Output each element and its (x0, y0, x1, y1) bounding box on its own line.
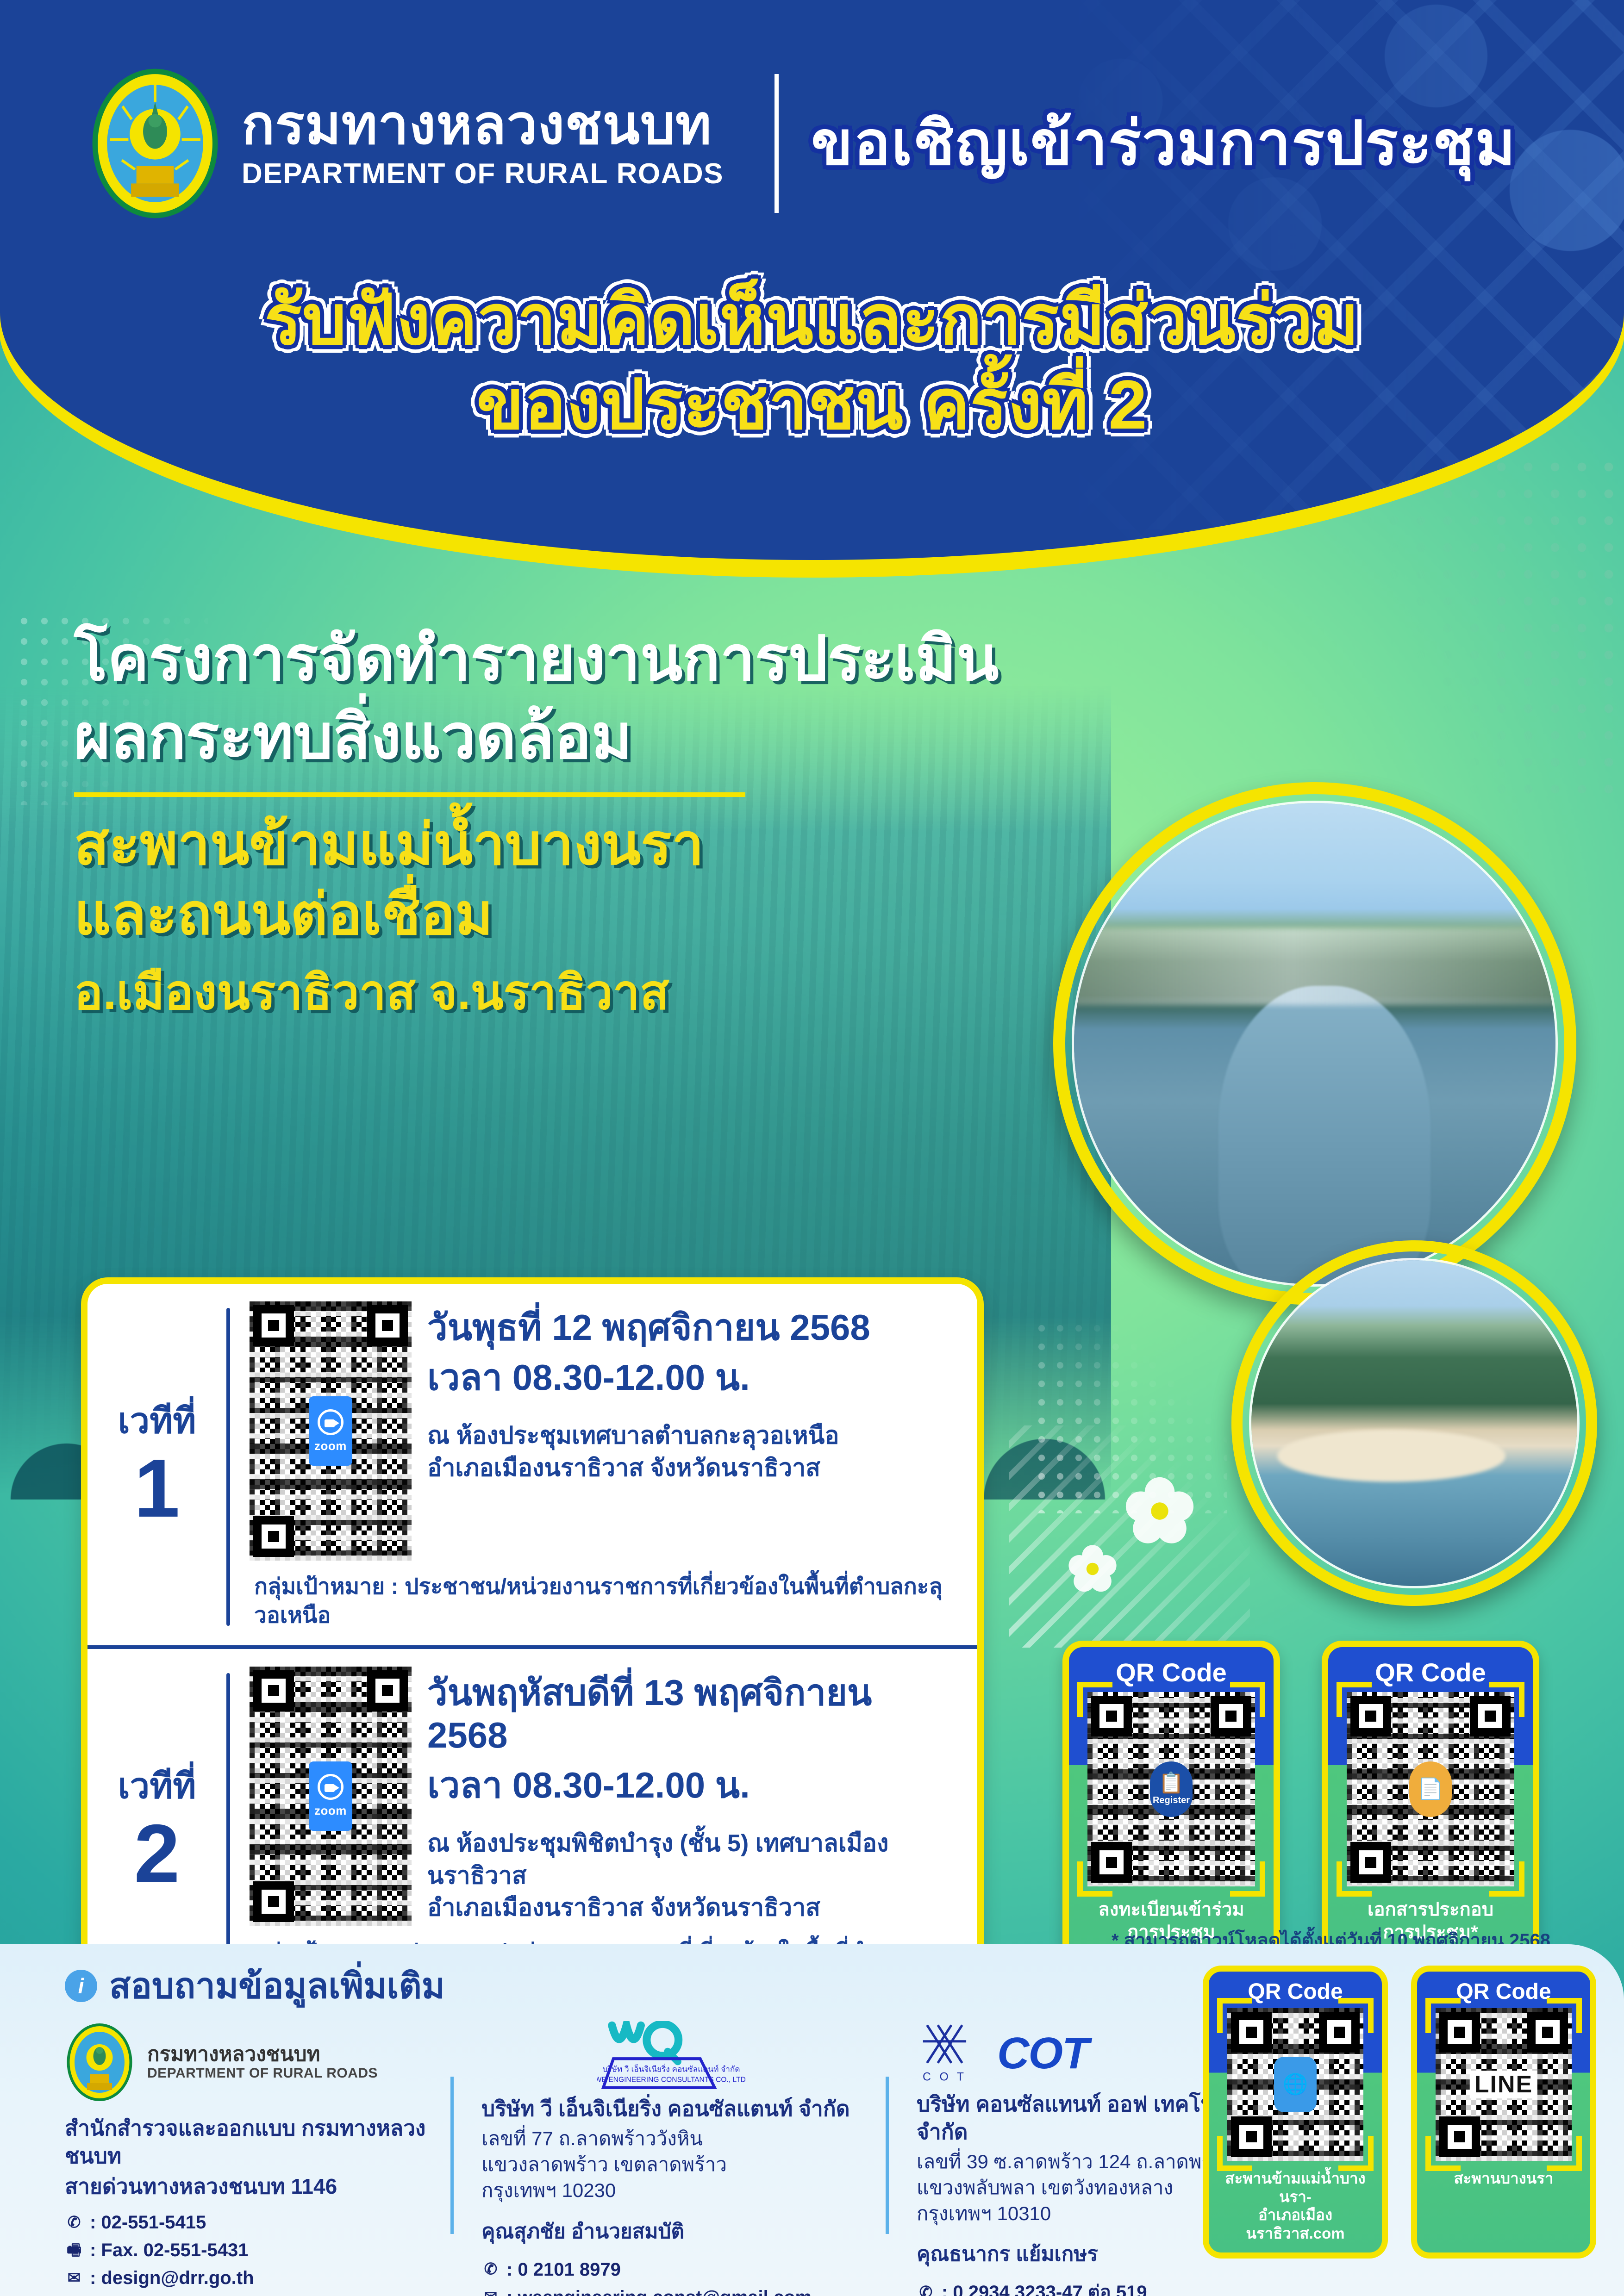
email-icon: ✉ (65, 2266, 83, 2290)
zoom-logo-icon: zoom (309, 1396, 352, 1466)
session-1-badge: เวทีที่ 1 (87, 1300, 226, 1634)
session-vertical-rule (226, 1308, 230, 1626)
footer-drr-hotline: สายด่วนทางหลวงชนบท 1146 (65, 2173, 426, 2201)
project-subtitle-line1: สะพานข้ามแม่น้ำบางนรา (74, 810, 999, 880)
documents-icon: 📄 (1409, 1761, 1452, 1817)
project-title-line2: ผลกระทบสิ่งแวดล้อม (74, 698, 999, 777)
contact-fax-text: : Fax. 02-551-5431 (90, 2236, 248, 2264)
we-engineering-logo: บริษัท วี เอ็นจิเนียริ่ง คอนซัลแตนท์ จำก… (481, 2021, 861, 2091)
qr-card-line-caption1: สะพานบางนรา (1422, 2169, 1586, 2188)
qr-card-documents[interactable]: QR Code 📄 เอกสารประกอบ การประชุม* (1322, 1641, 1539, 1964)
session-2-date: วันพฤหัสบดีที่ 13 พฤศจิกายน 2568 (427, 1671, 959, 1756)
contact-email[interactable]: ✉ : design@drr.go.th (65, 2264, 426, 2292)
qr-card-website-caption2: อำเภอเมืองนราธิวาส.com (1213, 2206, 1377, 2242)
qr-code-cards: QR Code 📋 Register ลงทะเบียนเข้าร่วม การ… (1062, 1641, 1539, 1964)
contact-phone[interactable]: ✆ : 02-551-5415 (65, 2209, 426, 2236)
session-2-time: เวลา 08.30-12.00 น. (427, 1764, 959, 1806)
footer-we-addr2: แขวงลาดพร้าว เขตลาดพร้าว (481, 2152, 861, 2178)
project-location: อ.เมืองนราธิวาส จ.นราธิวาส (74, 962, 999, 1024)
session-1-date: วันพุธที่ 12 พฤศจิกายน 2568 (427, 1306, 959, 1349)
qr-code-documents-image[interactable]: 📄 (1347, 1692, 1514, 1886)
zoom-badge-word: zoom (314, 1804, 347, 1818)
qr-card-documents-caption1: เอกสารประกอบ (1336, 1898, 1525, 1921)
footer-we-addr1: เลขที่ 77 ถ.ลาดพร้าววังหิน (481, 2126, 861, 2152)
narathiwat-coastline-aerial-photo (1231, 1240, 1597, 1606)
footer-drr-name-th: กรมทางหลวงชนบท (147, 2043, 378, 2066)
session-1-number: 1 (134, 1447, 180, 1530)
we-logo-icon: บริษัท วี เอ็นจิเนียริ่ง คอนซัลแตนท์ จำก… (597, 2021, 745, 2091)
we-phone-text: : 0 2101 8979 (506, 2256, 621, 2284)
session-1-target-group: กลุ่มเป้าหมาย : ประชาชน/หน่วยงานราชการที… (254, 1573, 959, 1630)
title-divider-rule (74, 792, 745, 797)
contact-phone-text: : 02-551-5415 (90, 2209, 206, 2236)
header-invite-text: ขอเชิญเข้าร่วมการประชุม (811, 110, 1516, 177)
contact-email[interactable]: ✉ : weengineering.const@gmail.com (481, 2284, 861, 2296)
drr-seal-icon (65, 2021, 134, 2103)
contact-fax: 🖷 : Fax. 02-551-5431 (65, 2236, 426, 2264)
header-org-name-th: กรมทางหลวงชนบท (242, 97, 724, 154)
contact-phone[interactable]: ✆ : 0 2101 8979 (481, 2256, 861, 2284)
hero-title: รับฟังความคิดเห็นและการมีส่วนร่วม ของประ… (0, 278, 1624, 447)
session-1-venue-line2: อำเภอเมืองนราธิวาส จังหวัดนราธิวาส (427, 1452, 959, 1485)
footer-drr-office: สำนักสำรวจและออกแบบ กรมทางหลวงชนบท (65, 2115, 426, 2170)
zoom-logo-icon: zoom (309, 1761, 352, 1831)
svg-text:C O T: C O T (923, 2071, 967, 2083)
session-1-time: เวลา 08.30-12.00 น. (427, 1356, 959, 1399)
globe-www-icon: 🌐 (1274, 2057, 1317, 2112)
qr-card-website[interactable]: QR Code 🌐 สะพานข้ามแม่น้ำบางนรา- อำเภอเม… (1203, 1966, 1388, 2259)
info-icon: i (65, 1970, 97, 2002)
session-1-venue-line1: ณ ห้องประชุมเทศบาลตำบลกะลุวอเหนือ (427, 1420, 959, 1452)
session-2-label: เวทีที่ (118, 1769, 196, 1804)
footer-contact-section: i สอบถามข้อมูลเพิ่มเติม (0, 1944, 1624, 2296)
register-clipboard-icon: 📋 Register (1150, 1761, 1193, 1817)
zoom-qr-session-1[interactable]: zoom (250, 1301, 412, 1561)
footer-column-drr: กรมทางหลวงชนบท DEPARTMENT OF RURAL ROADS… (0, 2021, 454, 2296)
flower-icon (1065, 1541, 1120, 1597)
cot-wordmark: COT (997, 2028, 1088, 2079)
qr-card-register[interactable]: QR Code 📋 Register ลงทะเบียนเข้าร่วม การ… (1062, 1641, 1280, 1964)
header-org-name-en: DEPARTMENT OF RURAL ROADS (242, 157, 724, 190)
footer-column-we: บริษัท วี เอ็นจิเนียริ่ง คอนซัลแตนท์ จำก… (454, 2021, 889, 2296)
flower-icon (1120, 1472, 1199, 1550)
zoom-badge-word: zoom (314, 1439, 347, 1453)
session-2-number: 2 (134, 1812, 180, 1895)
footer-drr-name-en: DEPARTMENT OF RURAL ROADS (147, 2066, 378, 2081)
header-divider (775, 74, 779, 213)
line-logo-icon: LINE (1470, 2071, 1537, 2098)
qr-card-register-caption1: ลงทะเบียนเข้าร่วม (1076, 1898, 1266, 1921)
footer-we-company: บริษัท วี เอ็นจิเนียริ่ง คอนซัลแตนท์ จำก… (481, 2095, 861, 2123)
fax-icon: 🖷 (65, 2239, 83, 2262)
session-row: เวทีที่ 1 zoom วันพุธที่ 12 พฤศจิกาย (87, 1284, 977, 1645)
hero-title-line1: รับฟังความคิดเห็นและการมีส่วนร่วม (0, 278, 1624, 362)
phone-icon: ✆ (65, 2211, 83, 2234)
footer-qr-cards: QR Code 🌐 สะพานข้ามแม่น้ำบางนรา- อำเภอเม… (1203, 1966, 1596, 2259)
qr-card-website-caption1: สะพานข้ามแม่น้ำบางนรา- (1213, 2169, 1377, 2206)
we-email-text: : weengineering.const@gmail.com (506, 2284, 812, 2296)
hero-title-line2: ของประชาชน ครั้งที่ 2 (0, 362, 1624, 447)
session-1-label: เวทีที่ (118, 1404, 196, 1439)
contact-phone[interactable]: ✆ : 0 2934 3233-47 ต่อ 519 (917, 2278, 1305, 2296)
qr-card-line[interactable]: QR Code LINE สะพานบางนรา (1411, 1966, 1596, 2259)
svg-text:บริษัท วี เอ็นจิเนียริ่ง คอนซั: บริษัท วี เอ็นจิเนียริ่ง คอนซัลแตนท์ จำก… (603, 2063, 740, 2073)
email-icon: ✉ (481, 2285, 500, 2296)
zoom-qr-session-2[interactable]: zoom (250, 1667, 412, 1926)
project-title-line1: โครงการจัดทำรายงานการประเมิน (74, 620, 999, 698)
footer-we-addr3: กรุงเทพฯ 10230 (481, 2178, 861, 2203)
session-2-venue-line2: อำเภอเมืองนราธิวาส จังหวัดนราธิวาส (427, 1892, 959, 1924)
phone-icon: ✆ (917, 2281, 935, 2296)
session-2-venue-line1: ณ ห้องประชุมพิชิตบำรุง (ชั้น 5) เทศบาลเม… (427, 1828, 959, 1892)
project-subtitle-line2: และถนนต่อเชื่อม (74, 880, 999, 950)
svg-text:WE ENGINEERING CONSULTANTS CO.: WE ENGINEERING CONSULTANTS CO., LTD. (597, 2076, 745, 2084)
poster-root: กรมทางหลวงชนบท DEPARTMENT OF RURAL ROADS… (0, 0, 1624, 2296)
drr-seal-icon (88, 65, 222, 222)
qr-code-register-image[interactable]: 📋 Register (1087, 1692, 1255, 1886)
project-title-block: โครงการจัดทำรายงานการประเมิน ผลกระทบสิ่ง… (74, 620, 999, 1024)
bangnara-river-aerial-photo (1053, 782, 1576, 1305)
cot-logo-icon: C O T (917, 2021, 986, 2086)
cot-phone-text: : 0 2934 3233-47 ต่อ 519 (942, 2278, 1147, 2296)
session-vertical-rule (226, 1673, 230, 1991)
phone-icon: ✆ (481, 2258, 500, 2281)
footer-heading: สอบถามข้อมูลเพิ่มเติม (109, 1958, 445, 2014)
footer-we-contact-person: คุณสุภชัย อำนวยสมบัติ (481, 2215, 861, 2247)
register-badge-label: Register (1153, 1795, 1190, 1806)
contact-email-text: : design@drr.go.th (90, 2264, 254, 2292)
